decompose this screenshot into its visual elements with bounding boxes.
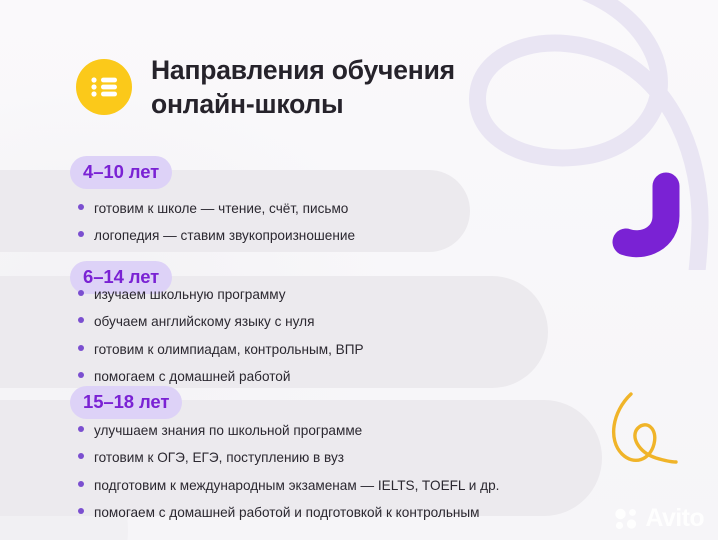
- bullet-dot-icon: [78, 508, 84, 514]
- page-title: Направления обучения онлайн-школы: [151, 54, 455, 121]
- list-item-label: улучшаем знания по школьной программе: [94, 422, 362, 440]
- list-item-label: подготовим к международным экзаменам — I…: [94, 477, 499, 495]
- age-group-panel: 6–14 летизучаем школьную программуобучае…: [0, 276, 548, 388]
- purple-hook-accent-shape: [598, 172, 684, 264]
- list-item: подготовим к международным экзаменам — I…: [78, 477, 499, 495]
- list-item: помогаем с домашней работой: [78, 368, 364, 386]
- list-item-label: готовим к школе — чтение, счёт, письмо: [94, 200, 348, 218]
- bullet-dot-icon: [78, 317, 84, 323]
- bullet-dot-icon: [78, 204, 84, 210]
- bullet-dot-icon: [78, 231, 84, 237]
- avito-dots-logo: [614, 507, 640, 531]
- bullet-dot-icon: [78, 426, 84, 432]
- lavender-loop-ribbon-shape: [426, 0, 718, 270]
- feature-list: улучшаем знания по школьной программегот…: [78, 422, 499, 531]
- list-item-label: готовим к ОГЭ, ЕГЭ, поступлению в вуз: [94, 449, 344, 467]
- feature-list: изучаем школьную программуобучаем англий…: [78, 286, 364, 395]
- list-item: улучшаем знания по школьной программе: [78, 422, 499, 440]
- bulleted-list-icon: [76, 59, 132, 115]
- age-group-panel: 4–10 летготовим к школе — чтение, счёт, …: [0, 170, 470, 252]
- list-item: готовим к школе — чтение, счёт, письмо: [78, 200, 355, 218]
- list-item: обучаем английскому языку с нуля: [78, 313, 364, 331]
- header: Направления обучения онлайн-школы: [76, 54, 455, 121]
- avito-watermark-text: Avito: [645, 506, 704, 531]
- list-item-label: изучаем школьную программу: [94, 286, 286, 304]
- age-range-badge: 15–18 лет: [70, 386, 182, 419]
- list-item-label: обучаем английскому языку с нуля: [94, 313, 314, 331]
- bullet-dot-icon: [78, 290, 84, 296]
- list-item-label: помогаем с домашней работой и подготовко…: [94, 504, 480, 522]
- avito-watermark: Avito: [614, 506, 704, 531]
- promo-card: Направления обучения онлайн-школы 4–10 л…: [0, 0, 718, 540]
- gold-squiggle-shape: [606, 388, 678, 470]
- list-item-label: помогаем с домашней работой: [94, 368, 290, 386]
- bullet-dot-icon: [78, 372, 84, 378]
- list-item-label: логопедия — ставим звукопроизношение: [94, 227, 355, 245]
- bullet-dot-icon: [78, 453, 84, 459]
- list-item: изучаем школьную программу: [78, 286, 364, 304]
- list-item: готовим к олимпиадам, контрольным, ВПР: [78, 341, 364, 359]
- age-group-panel: 15–18 летулучшаем знания по школьной про…: [0, 400, 602, 516]
- list-item-label: готовим к олимпиадам, контрольным, ВПР: [94, 341, 364, 359]
- list-item: готовим к ОГЭ, ЕГЭ, поступлению в вуз: [78, 449, 499, 467]
- bullet-dot-icon: [78, 481, 84, 487]
- age-range-badge: 4–10 лет: [70, 156, 172, 189]
- list-item: помогаем с домашней работой и подготовко…: [78, 504, 499, 522]
- bullet-dot-icon: [78, 345, 84, 351]
- feature-list: готовим к школе — чтение, счёт, письмоло…: [78, 200, 355, 255]
- list-item: логопедия — ставим звукопроизношение: [78, 227, 355, 245]
